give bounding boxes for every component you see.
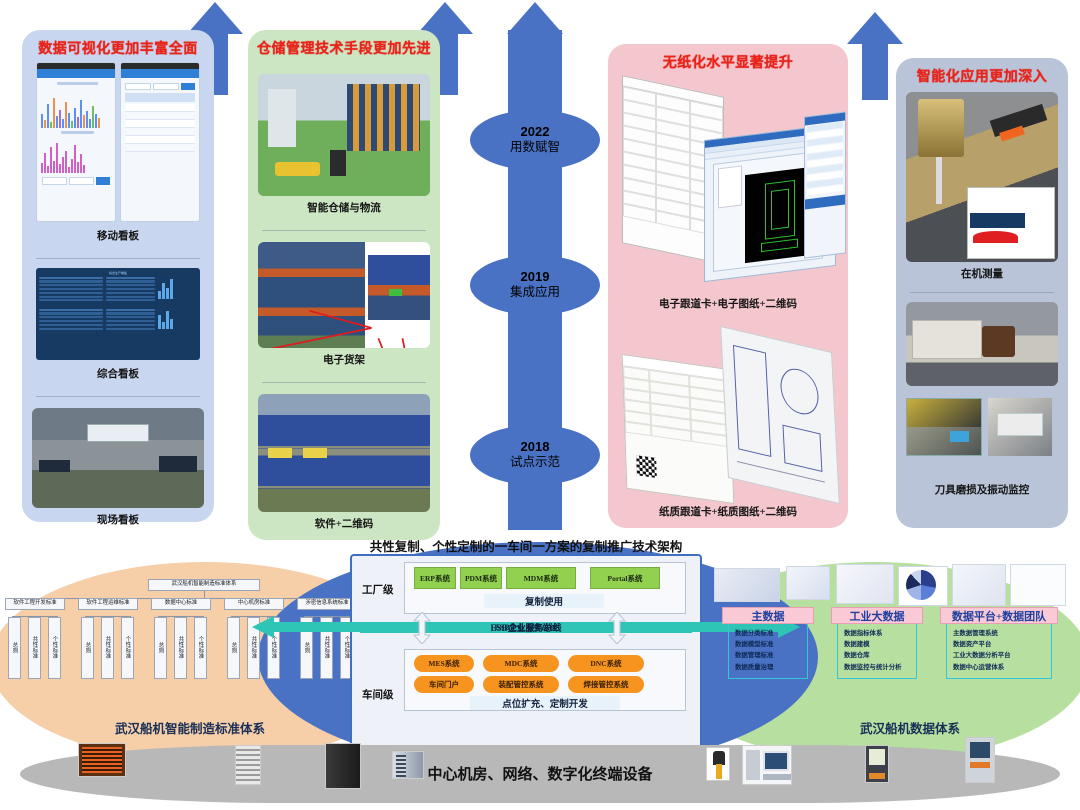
data-item: 数据质量治理 [735, 662, 801, 673]
data-item: 数据建模 [844, 639, 910, 650]
data-item: 数据中心运营体系 [953, 662, 1045, 673]
caption-paper-docs: 纸质跟道卡+纸质图纸+二维码 [608, 504, 848, 519]
standards-branch-0: 软件工程开发标准 [5, 598, 65, 610]
data-item: 数据模型标准 [735, 639, 801, 650]
data-thumb-bigdata-diagram [836, 564, 894, 604]
standards-leaf: 总则 [154, 617, 167, 679]
cell-onsite-dashboard: 现场看板 [22, 408, 214, 526]
timeline-year: 2018 [521, 440, 550, 455]
data-item: 数据指标体系 [844, 628, 910, 639]
timeline-node-2018: 2018 试点示范 [470, 425, 600, 485]
cell-mobile-dashboard: 移动看板 [22, 62, 214, 248]
data-system-caption: 武汉船机数据体系 [760, 718, 1060, 737]
workshop-level-label: 车间级 [362, 687, 396, 702]
updown-arrow-left [413, 612, 431, 644]
cell-electronic-docs: 电子跟道卡+电子图纸+二维码 [608, 74, 848, 314]
cell-smart-warehouse: 智能仓储与物流 [248, 74, 440, 222]
timeline-label: 试点示范 [510, 455, 560, 470]
data-group-bigdata: 工业大数据 数据指标体系 数据建模 数据仓库 数据监控与统计分析 [831, 607, 923, 679]
data-group-platform-team: 数据平台+数据团队 主数据管理系统 数据资产平台 工业大数据分析平台 数据中心运… [940, 607, 1058, 679]
cell-on-machine-measurement: 在机测量 [896, 92, 1068, 282]
panel-divider [910, 292, 1054, 293]
caption-mobile-dashboard: 移动看板 [22, 228, 214, 243]
tree-line [204, 591, 205, 598]
workshop-level-note: 点位扩充、定制开发 [470, 696, 620, 710]
data-group-masterdata: 主数据 数据分类标准 数据模型标准 数据管理标准 数据质量治理 [722, 607, 814, 679]
standards-leaf: 总则 [81, 617, 94, 679]
cell-tool-wear-monitoring: 刀具磨损及振动监控 [896, 302, 1068, 518]
software-qrcode-photo [258, 394, 430, 512]
panel-divider [36, 396, 200, 397]
vibration-monitor-photo [988, 398, 1052, 456]
standards-leaf: 总则 [8, 617, 21, 679]
standards-branch-1: 软件工程运维标准 [78, 598, 138, 610]
cell-integrated-dashboard: 综合生产看板 [22, 268, 214, 386]
led-display-icon [78, 743, 126, 777]
machine-tool-photo [906, 302, 1058, 386]
standards-leaf: 个性标准 [121, 617, 134, 679]
data-item: 数据管理标准 [735, 650, 801, 661]
integrated-dashboard-art: 综合生产看板 [36, 268, 200, 360]
caption-onsite-dashboard: 现场看板 [22, 512, 214, 527]
desktop-computer-icon [742, 745, 792, 785]
data-group-title: 主数据 [722, 607, 814, 624]
data-item: 数据仓库 [844, 650, 910, 661]
phone-mock-right [120, 62, 200, 222]
standards-leaf: 共性标准 [28, 617, 41, 679]
cell-software-qrcode: 软件+二维码 [248, 394, 440, 536]
network-switch-icon [392, 751, 424, 779]
data-group-items: 数据分类标准 数据模型标准 数据管理标准 数据质量治理 [728, 624, 808, 679]
kiosk-terminal-icon [965, 737, 995, 783]
esb-label: ESB企业服务总线 [490, 621, 561, 634]
panel-intelligent: 智能化应用更加深入 在机测量 [896, 58, 1068, 528]
standards-branch-2: 数据中心标准 [151, 598, 211, 610]
standards-caption: 武汉船机智能制造标准体系 [40, 718, 340, 737]
factory-level-note: 复制使用 [484, 594, 604, 608]
system-mes[interactable]: MES系统 [414, 655, 474, 672]
on-machine-measurement-photo [906, 92, 1058, 262]
timeline-node-2022: 2022 用数赋智 [470, 110, 600, 170]
updown-arrow-right [608, 612, 626, 644]
data-item: 数据资产平台 [953, 639, 1045, 650]
onsite-dashboard-photo [32, 408, 204, 508]
factory-level-label: 工厂级 [362, 582, 396, 597]
data-thumb-network [786, 566, 830, 600]
panel-visualization: 数据可视化更加丰富全面 [22, 30, 214, 522]
esb-arrow-left [252, 614, 372, 640]
data-item: 数据分类标准 [735, 628, 801, 639]
cell-electronic-rack: 电子货架 [248, 242, 440, 374]
caption-integrated-dashboard: 综合看板 [22, 366, 214, 381]
caption-electronic-docs: 电子跟道卡+电子图纸+二维码 [608, 296, 848, 311]
data-item: 主数据管理系统 [953, 628, 1045, 639]
architecture-title: 共性复制、个性定制的一车间一方案的复制推广技术架构 [352, 536, 700, 555]
standards-leaf: 总则 [227, 617, 240, 679]
smart-warehouse-photo [258, 74, 430, 196]
electronic-rack-photo [258, 242, 430, 348]
paper-drawing-art [720, 326, 840, 504]
standards-branch-4: 涉密信息系统标准 [297, 598, 357, 610]
system-portal[interactable]: Portal系统 [590, 567, 660, 589]
timeline-year: 2022 [521, 125, 550, 140]
timeline-node-2019: 2019 集成应用 [470, 255, 600, 315]
data-item: 工业大数据分析平台 [953, 650, 1045, 661]
barcode-scanner-icon [706, 747, 730, 781]
panel-paperless: 无纸化水平显著提升 [608, 44, 848, 528]
timeline-label: 集成应用 [510, 285, 560, 300]
system-workshop-portal[interactable]: 车间门户 [414, 676, 474, 693]
caption-tool-wear-monitoring: 刀具磨损及振动监控 [896, 482, 1068, 497]
paper-trace-card-art [622, 354, 735, 504]
data-group-items: 主数据管理系统 数据资产平台 工业大数据分析平台 数据中心运营体系 [946, 624, 1052, 679]
standards-leaf: 个性标准 [48, 617, 61, 679]
cell-paper-docs: 纸质跟道卡+纸质图纸+二维码 [608, 332, 848, 522]
system-dnc[interactable]: DNC系统 [568, 655, 644, 672]
qr-code-icon [636, 455, 657, 478]
tool-wear-photo-group [906, 398, 982, 456]
infrastructure-bar: 中心机房、网络、数字化终端设备 [20, 745, 1060, 803]
system-mdm[interactable]: MDM系统 [506, 567, 576, 589]
data-thumb-masterdata [714, 568, 780, 602]
panel-divider [262, 230, 426, 231]
system-mdc[interactable]: MDC系统 [483, 655, 559, 672]
data-thumb-table [1010, 564, 1066, 606]
data-group-title: 数据平台+数据团队 [940, 607, 1058, 624]
standards-root: 武汉船机智能制造标准体系 [148, 579, 260, 591]
system-welding-control[interactable]: 焊接管控系统 [568, 676, 644, 693]
standards-leaf: 共性标准 [101, 617, 114, 679]
timeline-year: 2019 [521, 270, 550, 285]
panel-intelligent-title: 智能化应用更加深入 [896, 66, 1068, 86]
standards-leaf: 共性标准 [174, 617, 187, 679]
panel-paperless-title: 无纸化水平显著提升 [608, 52, 848, 72]
panel-warehouse-title: 仓储管理技术手段更加先进 [248, 38, 440, 58]
caption-electronic-rack: 电子货架 [248, 352, 440, 367]
timeline-label: 用数赋智 [510, 140, 560, 155]
panel-visualization-title: 数据可视化更加丰富全面 [22, 38, 214, 58]
server-rack-icon [235, 745, 261, 785]
caption-on-machine-measurement: 在机测量 [896, 266, 1068, 281]
erp-list-window [804, 111, 846, 258]
standards-leaf: 个性标准 [194, 617, 207, 679]
panel-divider [36, 258, 200, 259]
caption-smart-warehouse: 智能仓储与物流 [248, 200, 440, 215]
panel-warehouse: 仓储管理技术手段更加先进 智能仓储与物流 [248, 30, 440, 540]
caption-software-qrcode: 软件+二维码 [248, 516, 440, 531]
data-group-title: 工业大数据 [831, 607, 923, 624]
system-erp[interactable]: ERP系统 [414, 567, 456, 589]
system-assembly-control[interactable]: 装配管控系统 [483, 676, 559, 693]
tower-server-icon [325, 743, 361, 789]
data-group-items: 数据指标体系 数据建模 数据仓库 数据监控与统计分析 [837, 624, 917, 679]
standards-branch-3: 中心机房标准 [224, 598, 284, 610]
data-thumb-flowchart [952, 564, 1006, 606]
panel-divider [262, 382, 426, 383]
system-pdm[interactable]: PDM系统 [460, 567, 502, 589]
infrastructure-label: 中心机房、网络、数字化终端设备 [20, 763, 1060, 784]
data-item: 数据监控与统计分析 [844, 662, 910, 673]
phone-mock-left [36, 62, 116, 222]
handheld-terminal-icon [865, 745, 889, 783]
